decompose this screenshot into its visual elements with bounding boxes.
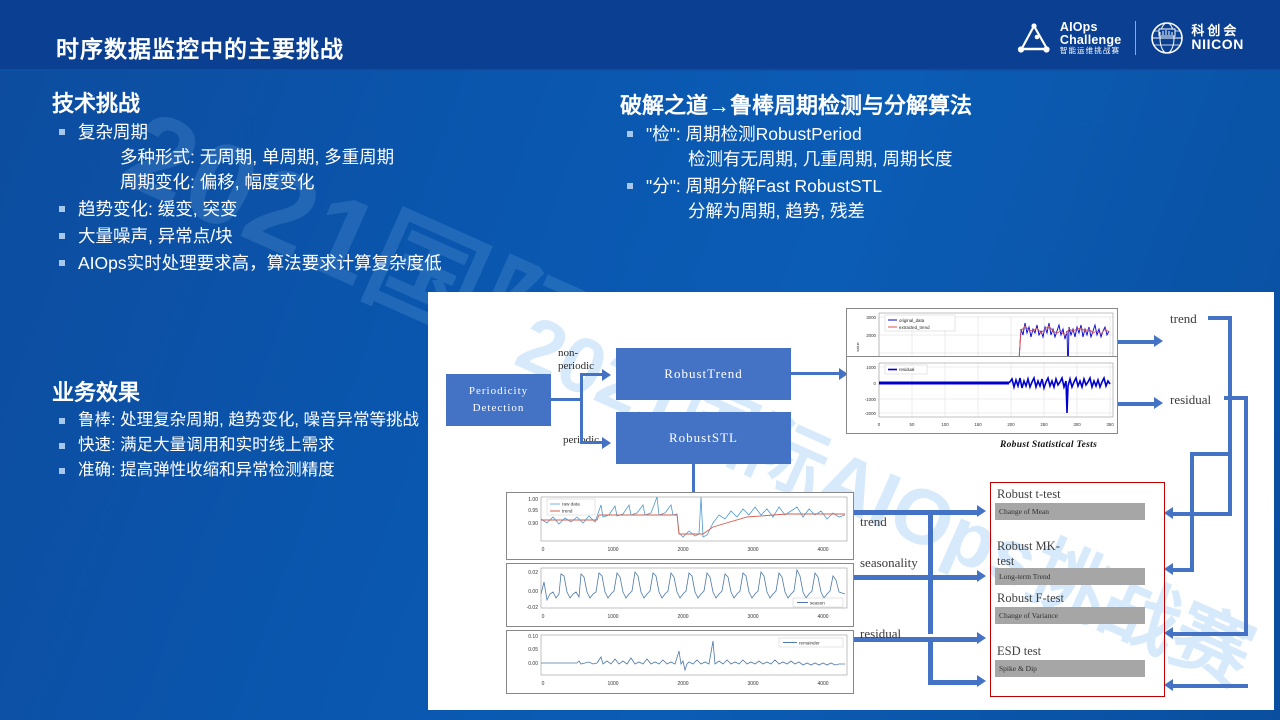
sub-text: 分解为周期, 趋势, 残差 bbox=[620, 199, 1260, 224]
sub-text: 检测有无周期, 几重周期, 周期长度 bbox=[620, 147, 1260, 172]
list-item: 快速: 满足大量调用和实时线上需求 bbox=[52, 434, 432, 457]
arrow-head-icon bbox=[977, 505, 986, 517]
connector bbox=[1170, 512, 1232, 516]
svg-text:residual: residual bbox=[899, 367, 914, 372]
svg-text:3000: 3000 bbox=[747, 681, 758, 687]
aiops-line2: Challenge bbox=[1060, 34, 1122, 47]
test-desc: Change of Variance bbox=[999, 611, 1058, 620]
solution-list-1: "检": 周期检测RobustPeriod bbox=[620, 122, 1260, 147]
bullet-square-icon bbox=[59, 418, 65, 424]
svg-text:4000: 4000 bbox=[817, 547, 828, 553]
bullet-text: "分": 周期分解Fast RobustSTL bbox=[646, 176, 882, 196]
svg-text:raw data: raw data bbox=[562, 502, 580, 507]
bullet-square-icon bbox=[59, 260, 65, 266]
svg-text:250: 250 bbox=[1040, 422, 1048, 427]
svg-text:0.05: 0.05 bbox=[528, 647, 538, 653]
test-item: Robust F-test Change of Variance bbox=[991, 591, 1164, 606]
connector bbox=[791, 372, 839, 375]
connector bbox=[580, 373, 583, 444]
arrow-head-icon bbox=[1164, 627, 1173, 639]
arrow-head-icon bbox=[1164, 679, 1173, 691]
bullet-square-icon bbox=[59, 468, 65, 474]
arrow-head-icon bbox=[1154, 335, 1163, 347]
connector bbox=[854, 575, 978, 580]
svg-text:2000: 2000 bbox=[866, 333, 876, 338]
list-item: 准确: 提高弹性收缩和异常检测精度 bbox=[52, 459, 432, 482]
bullet-text: 复杂周期 bbox=[78, 122, 148, 142]
architecture-diagram-panel: 2021国际AIOps挑战赛 PeriodicityDetection Robu… bbox=[428, 292, 1274, 710]
svg-text:350: 350 bbox=[1106, 422, 1114, 427]
slide: 2021国际AIOps挑战赛 时序数据监控中的主要挑战 AIOps Challe… bbox=[0, 0, 1280, 720]
connector bbox=[928, 510, 933, 634]
connector bbox=[1224, 396, 1248, 400]
svg-text:0: 0 bbox=[542, 614, 545, 620]
connector bbox=[1170, 684, 1248, 688]
test-desc: Long-term Trend bbox=[999, 572, 1050, 581]
svg-text:0.95: 0.95 bbox=[528, 508, 538, 514]
arrow-head-icon bbox=[1164, 563, 1173, 575]
technical-challenges-section: 技术挑战 复杂周期 多种形式: 无周期, 单周期, 多重周期 周期变化: 偏移,… bbox=[52, 86, 612, 276]
bullet-text: "检": 周期检测RobustPeriod bbox=[646, 124, 862, 144]
svg-text:-0.02: -0.02 bbox=[527, 605, 539, 611]
list-item: 复杂周期 bbox=[52, 120, 612, 145]
logo-divider bbox=[1135, 21, 1136, 55]
residual-bottom-label: residual bbox=[860, 626, 901, 642]
svg-text:0: 0 bbox=[874, 381, 877, 386]
test-item: Robust MK-test Long-term Trend bbox=[991, 539, 1164, 569]
svg-text:100: 100 bbox=[941, 422, 949, 427]
bullet-text: 大量噪声, 异常点/块 bbox=[78, 226, 233, 246]
svg-text:0: 0 bbox=[878, 422, 881, 427]
list-item: 鲁棒: 处理复杂周期, 趋势变化, 噪音异常等挑战 bbox=[52, 409, 432, 432]
svg-text:1000: 1000 bbox=[607, 547, 618, 553]
bullet-square-icon bbox=[59, 443, 65, 449]
connector bbox=[1190, 452, 1194, 568]
arrow-head-icon bbox=[977, 632, 986, 644]
svg-text:300: 300 bbox=[1073, 422, 1081, 427]
svg-text:4000: 4000 bbox=[817, 681, 828, 687]
connector bbox=[1118, 340, 1156, 344]
connector bbox=[1190, 452, 1232, 456]
svg-text:-2000: -2000 bbox=[865, 411, 877, 416]
svg-text:2000: 2000 bbox=[677, 614, 688, 620]
list-item: 趋势变化: 缓变, 突变 bbox=[52, 197, 612, 222]
test-item: Robust t-test Change of Mean bbox=[991, 487, 1164, 502]
trend-top-label: trend bbox=[1170, 311, 1197, 327]
svg-text:1000: 1000 bbox=[866, 365, 876, 370]
arrow-head-icon bbox=[977, 675, 986, 687]
bullet-square-icon bbox=[627, 183, 633, 189]
solution-section: 破解之道→鲁棒周期检测与分解算法 "检": 周期检测RobustPeriod 检… bbox=[620, 88, 1260, 224]
svg-text:trend: trend bbox=[562, 509, 573, 514]
svg-text:0: 0 bbox=[542, 547, 545, 553]
tests-caption: Robust Statistical Tests bbox=[1000, 440, 1097, 450]
connector bbox=[1228, 316, 1232, 516]
connector bbox=[1170, 632, 1248, 636]
svg-text:original_data: original_data bbox=[899, 318, 925, 323]
robuststl-box: RobustSTL bbox=[616, 412, 791, 464]
business-effect-list: 鲁棒: 处理复杂周期, 趋势变化, 噪音异常等挑战 快速: 满足大量调用和实时线… bbox=[52, 409, 432, 482]
list-item: AIOps实时处理要求高，算法要求计算复杂度低 bbox=[52, 251, 612, 276]
sub-text: 周期变化: 偏移, 幅度变化 bbox=[52, 170, 612, 195]
chart-robuststl-season: season 0.020.00-0.02 010002000 30004000 bbox=[506, 563, 854, 627]
bullet-square-icon bbox=[59, 233, 65, 239]
connector bbox=[928, 680, 978, 685]
connector bbox=[1170, 568, 1194, 572]
niicon-en: NIICON bbox=[1191, 37, 1244, 52]
aiops-line1: AIOps bbox=[1060, 21, 1122, 34]
technical-challenges-heading: 技术挑战 bbox=[52, 86, 612, 118]
connector bbox=[928, 637, 978, 642]
chart-robuststl-remainder: remainder 0.100.050.00 010002000 3000400… bbox=[506, 630, 854, 694]
svg-text:extracted_trend: extracted_trend bbox=[899, 325, 930, 330]
chart-robusttrend-residual: residual 10000-1000-2000 050100 15020025… bbox=[846, 356, 1118, 434]
niicon-logo: 科创会 NIICON bbox=[1150, 21, 1244, 55]
chart-robuststl-raw-trend: raw data trend 1.000.950.90 010002000 30… bbox=[506, 492, 854, 560]
globe-icon bbox=[1150, 21, 1184, 55]
list-item: 大量噪声, 异常点/块 bbox=[52, 224, 612, 249]
bullet-text: 鲁棒: 处理复杂周期, 趋势变化, 噪音异常等挑战 bbox=[78, 411, 419, 429]
svg-text:3000: 3000 bbox=[747, 614, 758, 620]
svg-text:200: 200 bbox=[1007, 422, 1015, 427]
arrow-head-icon bbox=[1154, 397, 1163, 409]
svg-text:3000: 3000 bbox=[866, 315, 876, 320]
connector bbox=[928, 510, 978, 515]
test-desc: Change of Mean bbox=[999, 507, 1049, 516]
bullet-square-icon bbox=[59, 206, 65, 212]
svg-text:value: value bbox=[855, 341, 860, 351]
bullet-text: AIOps实时处理要求高，算法要求计算复杂度低 bbox=[78, 253, 442, 273]
svg-text:0.00: 0.00 bbox=[528, 661, 538, 667]
niicon-cn: 科创会 bbox=[1191, 24, 1244, 38]
test-name: Robust MK-test bbox=[991, 539, 1164, 569]
business-effect-section: 业务效果 鲁棒: 处理复杂周期, 趋势变化, 噪音异常等挑战 快速: 满足大量调… bbox=[52, 375, 432, 482]
residual-top-label: residual bbox=[1170, 392, 1211, 408]
arrow-head-icon bbox=[602, 437, 611, 449]
page-title: 时序数据监控中的主要挑战 bbox=[56, 30, 344, 64]
svg-text:1000: 1000 bbox=[607, 614, 618, 620]
test-item: ESD test Spike & Dip bbox=[991, 644, 1164, 659]
arrow-head-icon bbox=[977, 570, 986, 582]
bullet-text: 准确: 提高弹性收缩和异常检测精度 bbox=[78, 461, 335, 479]
aiops-triangle-icon bbox=[1015, 21, 1053, 55]
arrow-head-icon bbox=[602, 369, 611, 381]
sub-text: 多种形式: 无周期, 单周期, 多重周期 bbox=[52, 145, 612, 170]
svg-text:-1000: -1000 bbox=[865, 397, 877, 402]
non-periodic-label: non-periodic bbox=[558, 347, 608, 373]
title-underline bbox=[0, 69, 1280, 71]
svg-text:4000: 4000 bbox=[817, 614, 828, 620]
svg-text:remainder: remainder bbox=[799, 640, 820, 645]
svg-text:0.00: 0.00 bbox=[528, 589, 538, 595]
solution-heading: 破解之道→鲁棒周期检测与分解算法 bbox=[620, 88, 1260, 120]
test-name: Robust t-test bbox=[991, 487, 1164, 502]
periodicity-detection-box: PeriodicityDetection bbox=[446, 374, 551, 426]
connector bbox=[1244, 396, 1248, 636]
test-name: ESD test bbox=[991, 644, 1164, 659]
logo-group: AIOps Challenge 智能运维挑战赛 科创会 NIICON bbox=[1015, 18, 1244, 58]
bullet-square-icon bbox=[627, 131, 633, 137]
arrow-head-icon bbox=[1164, 507, 1173, 519]
svg-text:2000: 2000 bbox=[677, 547, 688, 553]
bullet-text: 快速: 满足大量调用和实时线上需求 bbox=[78, 436, 335, 454]
svg-text:0: 0 bbox=[542, 681, 545, 687]
svg-text:0.02: 0.02 bbox=[528, 570, 538, 576]
connector bbox=[580, 373, 602, 376]
solution-list-2: "分": 周期分解Fast RobustSTL bbox=[620, 174, 1260, 199]
bullet-text: 趋势变化: 缓变, 突变 bbox=[78, 199, 237, 219]
connector bbox=[580, 441, 602, 444]
connector bbox=[1244, 684, 1248, 688]
svg-text:0.10: 0.10 bbox=[528, 634, 538, 640]
svg-text:1000: 1000 bbox=[607, 681, 618, 687]
svg-text:2000: 2000 bbox=[677, 681, 688, 687]
niicon-logo-text: 科创会 NIICON bbox=[1191, 24, 1244, 52]
connector bbox=[551, 398, 583, 401]
svg-text:season: season bbox=[810, 600, 825, 605]
list-item: "分": 周期分解Fast RobustSTL bbox=[620, 174, 1260, 199]
aiops-line3: 智能运维挑战赛 bbox=[1060, 47, 1122, 55]
technical-challenges-list-rest: 趋势变化: 缓变, 突变 大量噪声, 异常点/块 AIOps实时处理要求高，算法… bbox=[52, 197, 612, 276]
svg-text:3000: 3000 bbox=[747, 547, 758, 553]
bullet-square-icon bbox=[59, 129, 65, 135]
test-name: Robust F-test bbox=[991, 591, 1164, 606]
technical-challenges-list: 复杂周期 bbox=[52, 120, 612, 145]
test-desc: Spike & Dip bbox=[999, 664, 1037, 673]
svg-text:50: 50 bbox=[910, 422, 915, 427]
list-item: "检": 周期检测RobustPeriod bbox=[620, 122, 1260, 147]
trend-bottom-label: trend bbox=[860, 514, 887, 530]
robust-statistical-tests-box: Robust t-test Change of Mean Robust MK-t… bbox=[990, 482, 1165, 697]
aiops-logo-text: AIOps Challenge 智能运维挑战赛 bbox=[1060, 21, 1122, 55]
svg-text:150: 150 bbox=[974, 422, 982, 427]
aiops-logo: AIOps Challenge 智能运维挑战赛 bbox=[1015, 21, 1122, 55]
robusttrend-box: RobustTrend bbox=[616, 348, 791, 400]
connector bbox=[1208, 316, 1232, 320]
seasonality-label: seasonality bbox=[860, 555, 918, 571]
connector bbox=[928, 637, 933, 685]
svg-text:1.00: 1.00 bbox=[528, 497, 538, 503]
business-effect-heading: 业务效果 bbox=[52, 375, 432, 407]
connector bbox=[1118, 402, 1156, 406]
periodicity-detection-label: PeriodicityDetection bbox=[469, 383, 528, 417]
svg-text:0.90: 0.90 bbox=[528, 521, 538, 527]
